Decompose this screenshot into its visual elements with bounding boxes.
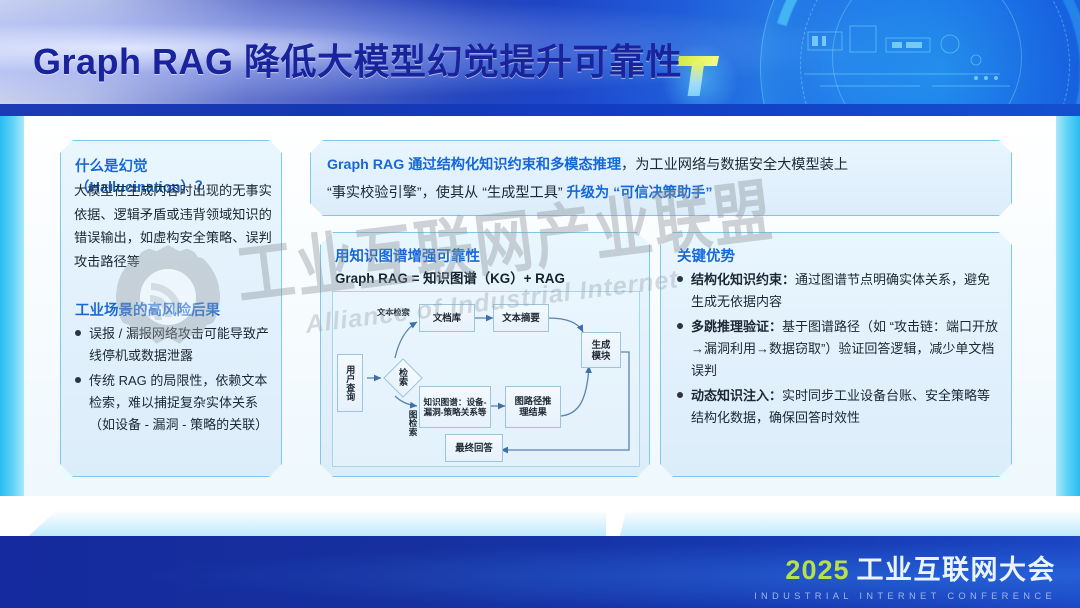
banner-seg-quote: “事实校验引擎”，使其从 “生成型工具”: [327, 185, 563, 201]
flow-node-generator: 生成模块: [581, 332, 621, 368]
list-item: 传统 RAG 的局限性，依赖文本检索，难以捕捉复杂实体关系（如设备 - 漏洞 -…: [74, 370, 277, 437]
slide-footer: 2025 工业互联网大会 INDUSTRIAL INTERNET CONFERE…: [0, 536, 1080, 608]
flowchart: 用户查询 检索 文本检索 图检索 文档库 文本摘要 生成模块 知识图谱：设备-漏…: [332, 291, 640, 467]
conference-logo-cn: 工业互联网大会: [857, 548, 1057, 587]
card-what-is-hallucination: 什么是幻觉（Hallucination）？ 大模型在生成内容时出现的无事实依据、…: [60, 140, 282, 477]
conference-logo-en: INDUSTRIAL INTERNET CONFERENCE: [754, 590, 1056, 601]
list-item: 误报 / 漏报网络攻击可能导致产线停机或数据泄露: [74, 323, 277, 368]
flow-node-text-summary: 文本摘要: [493, 304, 549, 332]
card-knowledge-graph-diagram: 用知识图谱增强可靠性 Graph RAG = 知识图谱（KG）+ RAG: [320, 232, 650, 477]
banner-seg-tail: ，为工业网络与数据安全大模型装上: [621, 157, 848, 173]
list-item-lead: 多跳推理验证：: [691, 319, 782, 334]
list-item: 结构化知识约束：通过图谱节点明确实体关系，避免生成无依据内容: [676, 269, 1001, 314]
right-card-title: 关键优势: [677, 245, 735, 266]
flow-node-knowledge-graph: 知识图谱：设备-漏洞-策略关系等: [419, 386, 491, 428]
flow-edge-label-text-retrieval: 文本检索: [377, 306, 410, 318]
conference-logo-year: 2025: [785, 555, 849, 586]
flow-node-user-query: 用户查询: [337, 354, 363, 412]
banner-text: Graph RAG 通过结构化知识约束和多模态推理，为工业网络与数据安全大模型装…: [327, 152, 999, 207]
card-summary-banner: Graph RAG 通过结构化知识约束和多模态推理，为工业网络与数据安全大模型装…: [310, 140, 1012, 216]
banner-seg-method: 通过结构化知识约束和多模态推理: [408, 157, 621, 173]
t-logo-icon: [676, 54, 722, 102]
flow-node-doc-store: 文档库: [419, 304, 475, 332]
list-item: 多跳推理验证：基于图谱路径（如 “攻击链：端口开放→漏洞利用→数据窃取”）验证回…: [676, 316, 1001, 383]
left-card-bullet-list: 误报 / 漏报网络攻击可能导致产线停机或数据泄露 传统 RAG 的局限性，依赖文…: [74, 323, 277, 439]
flow-node-final-answer: 最终回答: [445, 434, 503, 462]
mid-card-equation: Graph RAG = 知识图谱（KG）+ RAG: [335, 267, 565, 287]
slide-header: Graph RAG 降低大模型幻觉提升可靠性: [0, 0, 1080, 116]
left-edge-accent: [0, 116, 24, 496]
banner-seg-graphrag: Graph RAG: [327, 157, 404, 173]
conference-logo: 2025 工业互联网大会 INDUSTRIAL INTERNET CONFERE…: [754, 548, 1056, 596]
mid-card-title: 用知识图谱增强可靠性: [335, 245, 480, 266]
list-item: 动态知识注入：实时同步工业设备台账、安全策略等结构化数据，确保回答时效性: [676, 385, 1001, 430]
flow-edge-label-graph-retrieval: 图检索: [407, 410, 419, 436]
card-key-advantages: 关键优势 结构化知识约束：通过图谱节点明确实体关系，避免生成无依据内容 多跳推理…: [660, 232, 1012, 477]
header-bottom-strip: [0, 104, 1080, 116]
flow-node-retrieve-label: 检索: [398, 368, 407, 386]
list-item-lead: 结构化知识约束：: [691, 272, 795, 287]
right-edge-accent: [1056, 116, 1080, 496]
banner-seg-upgrade: 升级为 “可信决策助手”: [567, 185, 713, 201]
flow-node-path-result: 图路径推理结果: [505, 386, 561, 428]
list-item-lead: 动态知识注入：: [691, 388, 782, 403]
right-card-bullet-list: 结构化知识约束：通过图谱节点明确实体关系，避免生成无依据内容 多跳推理验证：基于…: [676, 269, 1001, 432]
left-card-paragraph: 大模型在生成内容时出现的无事实依据、逻辑矛盾或违背领域知识的错误输出，如虚构安全…: [74, 179, 274, 273]
page-title: Graph RAG 降低大模型幻觉提升可靠性: [33, 33, 682, 85]
left-card-subtitle: 工业场景的高风险后果: [75, 299, 275, 320]
tech-hud-decoration-icon: [800, 18, 1020, 108]
